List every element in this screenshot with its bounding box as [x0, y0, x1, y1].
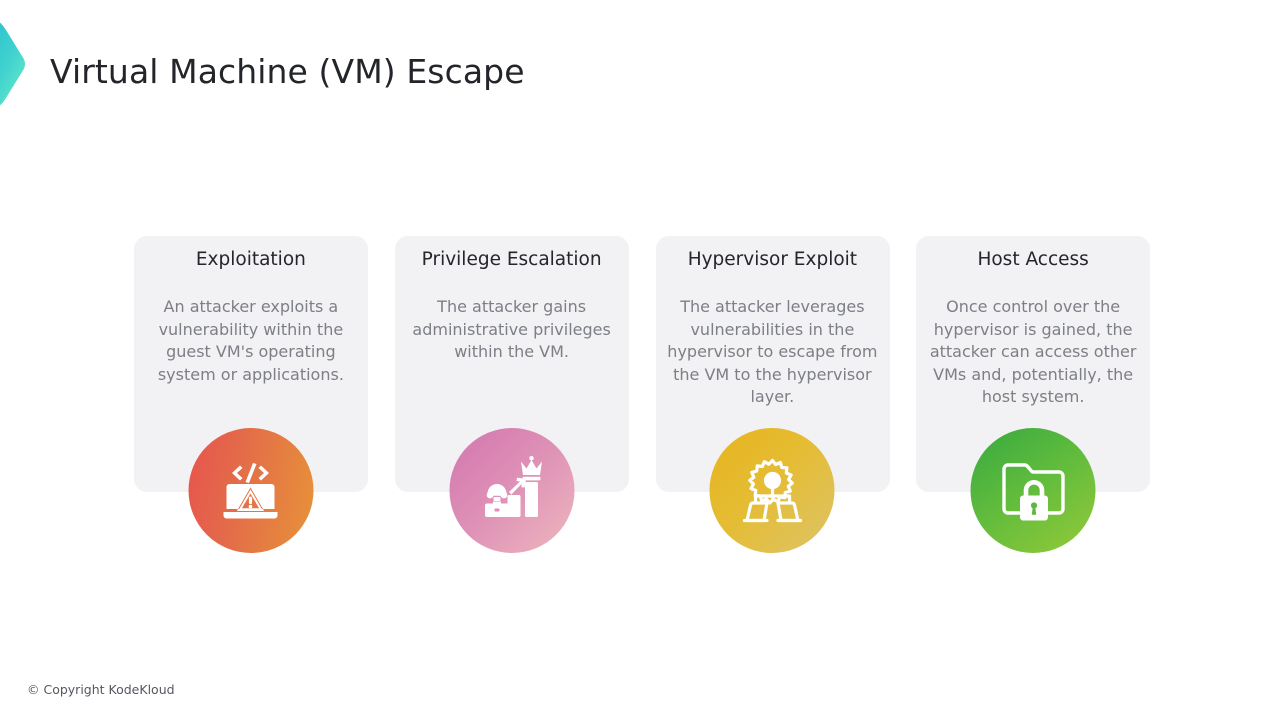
chevron-right-logo-icon [0, 14, 48, 114]
page-title: Virtual Machine (VM) Escape [50, 52, 525, 91]
card-description: An attacker exploits a vulnerability wit… [134, 296, 368, 386]
gear-two-laptops-icon [710, 428, 835, 553]
crown-bar-chart-user-icon [449, 428, 574, 553]
card-host-access[interactable]: Host Access Once control over the hyperv… [916, 236, 1150, 552]
card-description: The attacker gains administrative privil… [395, 296, 629, 364]
card-description: The attacker leverages vulnerabilities i… [656, 296, 890, 409]
card-title: Privilege Escalation [395, 248, 629, 272]
card-hypervisor-exploit[interactable]: Hypervisor Exploit The attacker leverage… [656, 236, 890, 552]
folder-lock-icon [971, 428, 1096, 553]
laptop-code-warning-icon [188, 428, 313, 553]
cards-row: Exploitation An attacker exploits a vuln… [134, 236, 1150, 552]
footer-copyright: © Copyright KodeKloud [27, 682, 175, 697]
card-description: Once control over the hypervisor is gain… [916, 296, 1150, 409]
card-title: Hypervisor Exploit [656, 248, 890, 272]
card-title: Exploitation [134, 248, 368, 272]
card-privilege-escalation[interactable]: Privilege Escalation The attacker gains … [395, 236, 629, 552]
card-title: Host Access [916, 248, 1150, 272]
card-exploitation[interactable]: Exploitation An attacker exploits a vuln… [134, 236, 368, 552]
slide: Virtual Machine (VM) Escape Exploitation… [0, 0, 1280, 720]
